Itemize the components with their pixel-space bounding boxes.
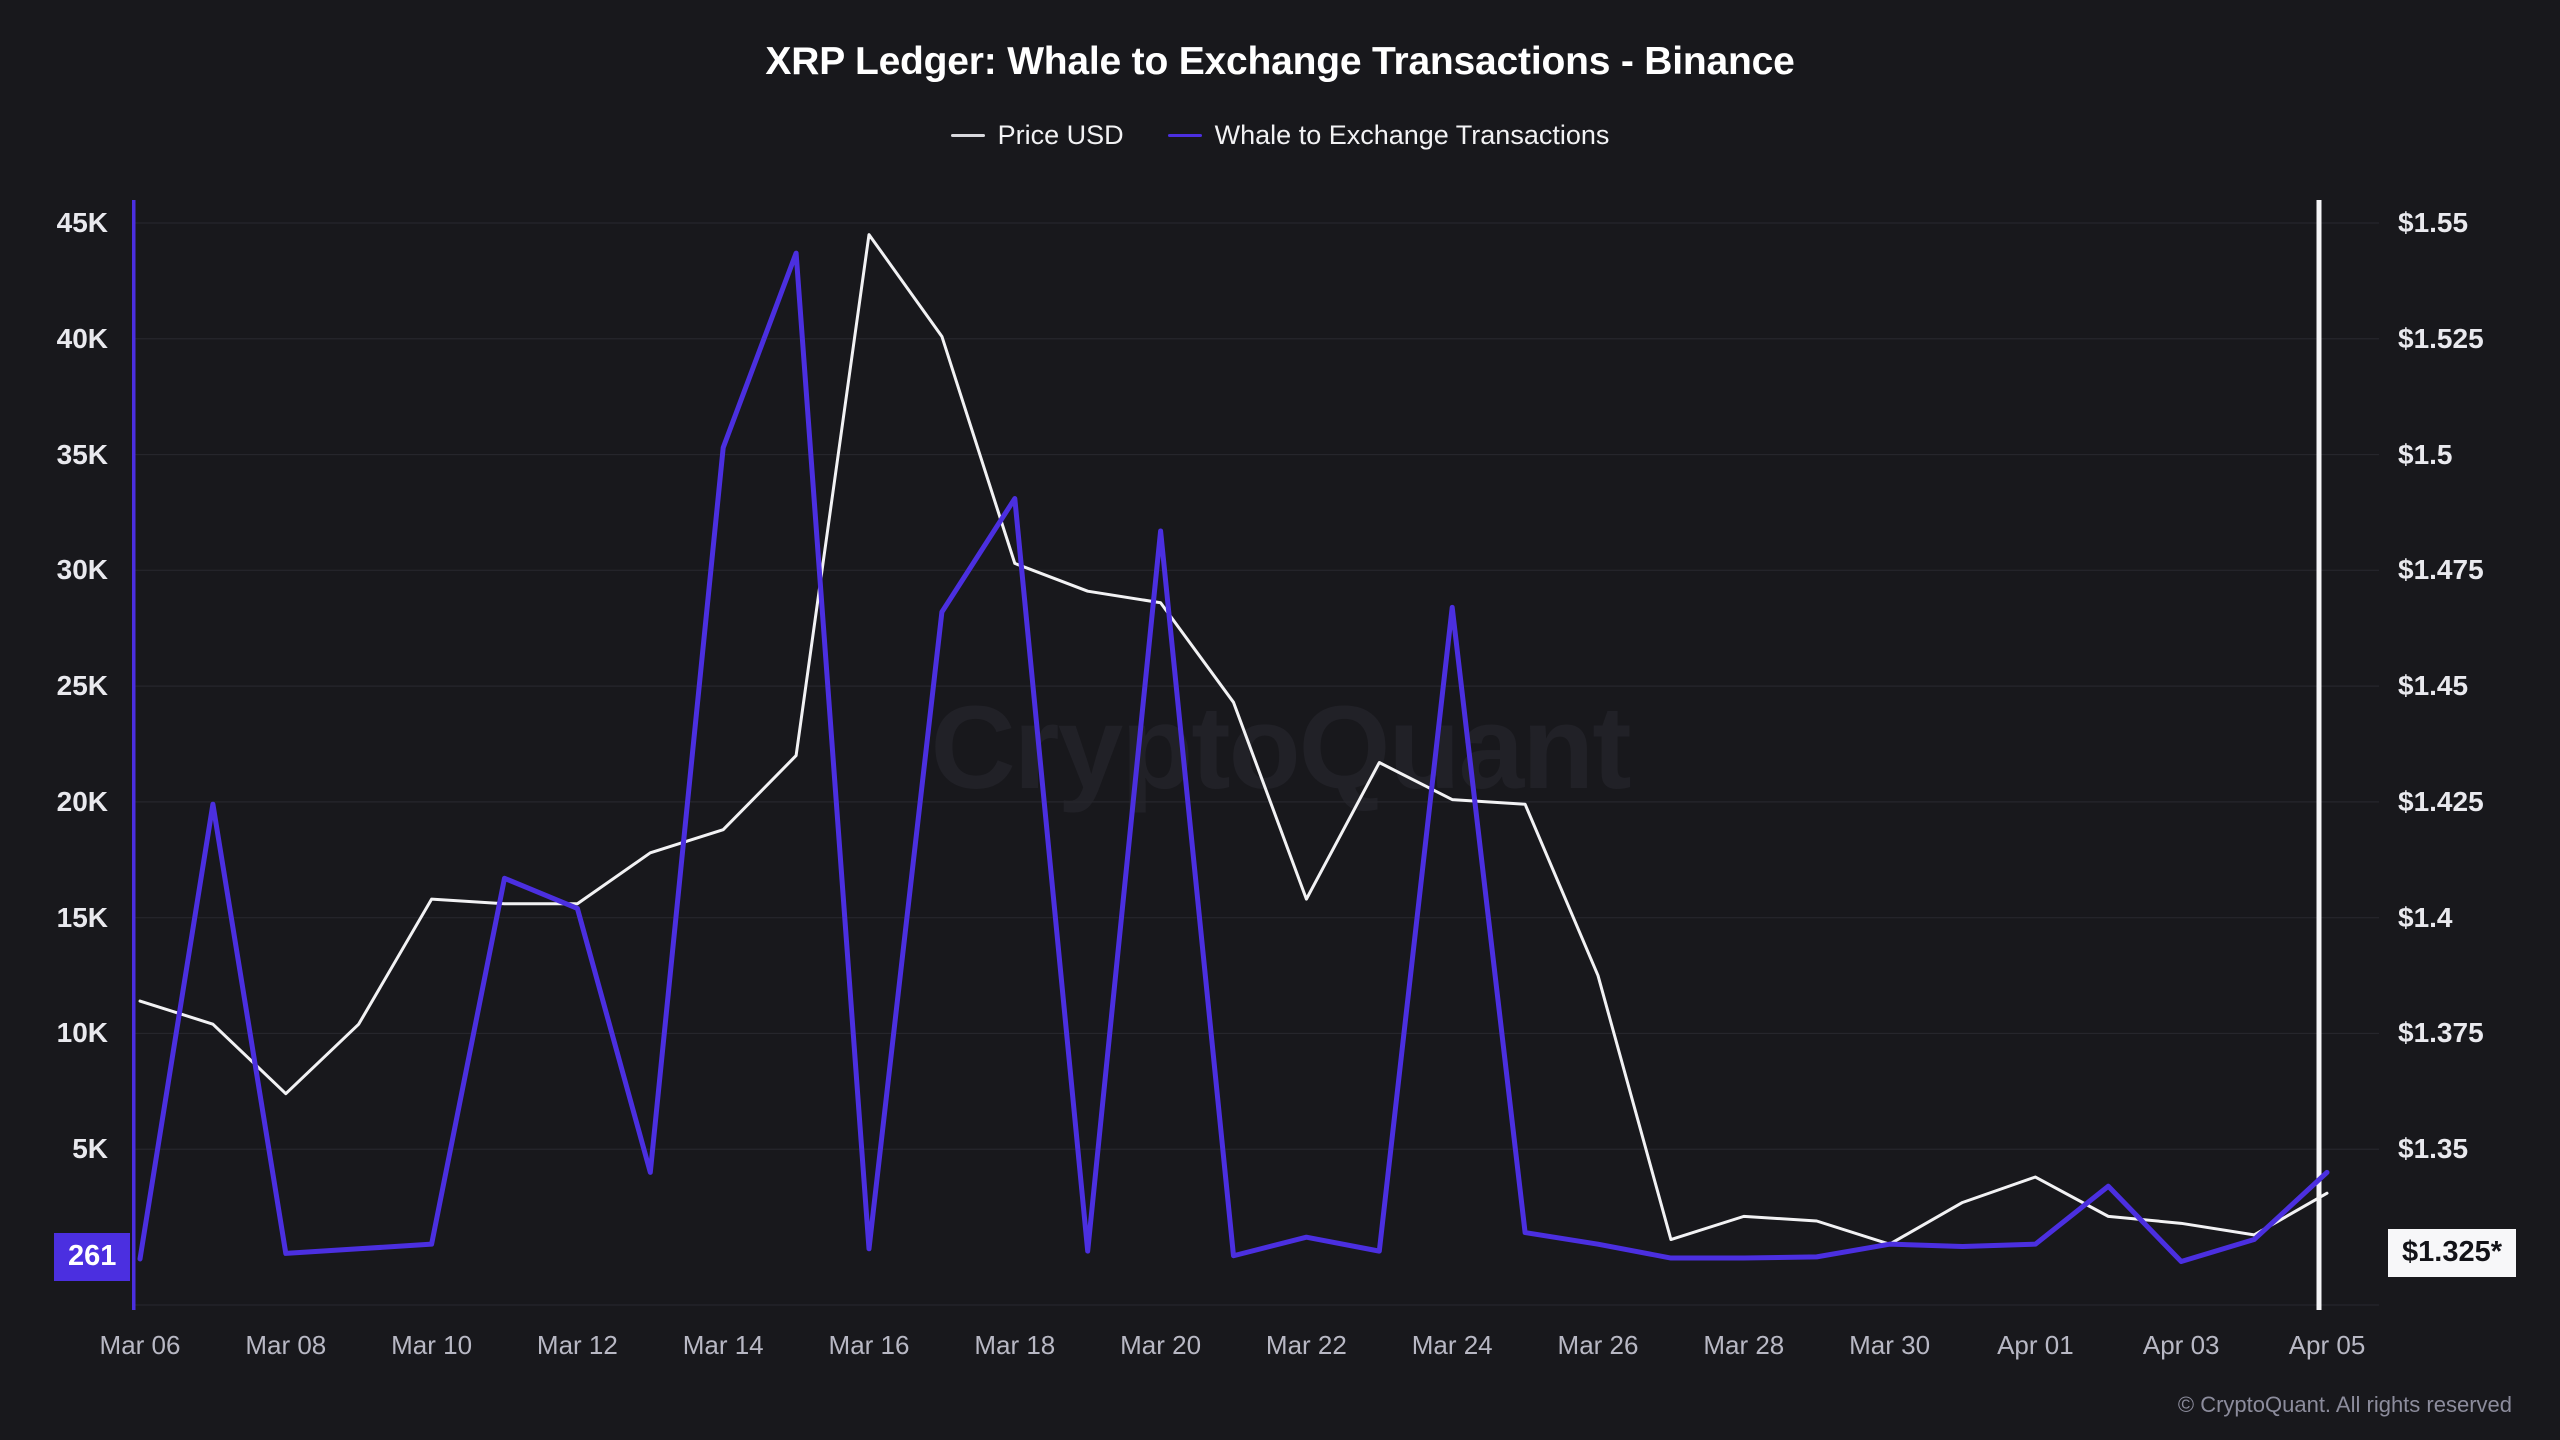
x-axis-tick: Mar 10 [391,1330,472,1361]
y-axis-right-tick: $1.425 [2398,786,2484,818]
x-axis-tick: Apr 03 [2143,1330,2220,1361]
x-axis-tick: Mar 30 [1849,1330,1930,1361]
y-axis-left-tick: 5K [72,1133,108,1165]
y-axis-left-tick: 45K [57,207,108,239]
series-line-price [140,235,2327,1245]
y-axis-left-tick: 40K [57,323,108,355]
series-line-whale [140,253,2327,1261]
y-axis-left-tick: 35K [57,439,108,471]
x-axis-tick: Apr 05 [2289,1330,2366,1361]
x-axis-tick: Apr 01 [1997,1330,2074,1361]
y-axis-right-tick: $1.5 [2398,439,2453,471]
x-axis-tick: Mar 22 [1266,1330,1347,1361]
footer-attribution: © CryptoQuant. All rights reserved [2178,1392,2512,1418]
plot-svg [132,200,2379,1312]
y-axis-right-tick: $1.35 [2398,1133,2468,1165]
chart-root: XRP Ledger: Whale to Exchange Transactio… [0,0,2560,1440]
chart-title: XRP Ledger: Whale to Exchange Transactio… [0,40,2560,84]
y-axis-left-tick: 30K [57,554,108,586]
plot-area [132,200,2379,1312]
chart-legend: Price USD Whale to Exchange Transactions [0,120,2560,151]
x-axis-tick: Mar 18 [974,1330,1055,1361]
legend-item-whale[interactable]: Whale to Exchange Transactions [1168,120,1610,151]
y-axis-left-tick: 25K [57,670,108,702]
x-axis-tick: Mar 26 [1558,1330,1639,1361]
legend-label-whale: Whale to Exchange Transactions [1215,120,1610,151]
x-axis-tick: Mar 28 [1703,1330,1784,1361]
current-value-badge-right: $1.325* [2388,1229,2516,1277]
x-axis-labels: Mar 06Mar 08Mar 10Mar 12Mar 14Mar 16Mar … [132,1330,2379,1370]
x-axis-tick: Mar 16 [829,1330,910,1361]
x-axis-tick: Mar 06 [100,1330,181,1361]
y-axis-right-tick: $1.475 [2398,554,2484,586]
x-axis-tick: Mar 20 [1120,1330,1201,1361]
axis-lines [133,200,2319,1310]
y-axis-right-tick: $1.45 [2398,670,2468,702]
x-axis-tick: Mar 14 [683,1330,764,1361]
y-axis-left-tick: 20K [57,786,108,818]
x-axis-tick: Mar 24 [1412,1330,1493,1361]
y-axis-left-tick: 10K [57,1017,108,1049]
y-axis-right-tick: $1.525 [2398,323,2484,355]
y-axis-right-tick: $1.375 [2398,1017,2484,1049]
y-axis-right-labels: $1.55$1.525$1.5$1.475$1.45$1.425$1.4$1.3… [2390,200,2560,1312]
legend-swatch-whale-icon [1168,134,1202,137]
y-axis-right-tick: $1.55 [2398,207,2468,239]
x-axis-tick: Mar 08 [245,1330,326,1361]
legend-item-price[interactable]: Price USD [951,120,1124,151]
legend-label-price: Price USD [998,120,1124,151]
y-axis-left-tick: 15K [57,902,108,934]
legend-swatch-price-icon [951,134,985,137]
y-axis-left-labels: 45K40K35K30K25K20K15K10K5K [0,200,120,1312]
x-axis-tick: Mar 12 [537,1330,618,1361]
y-axis-right-tick: $1.4 [2398,902,2453,934]
current-value-badge-left: 261 [54,1233,130,1281]
